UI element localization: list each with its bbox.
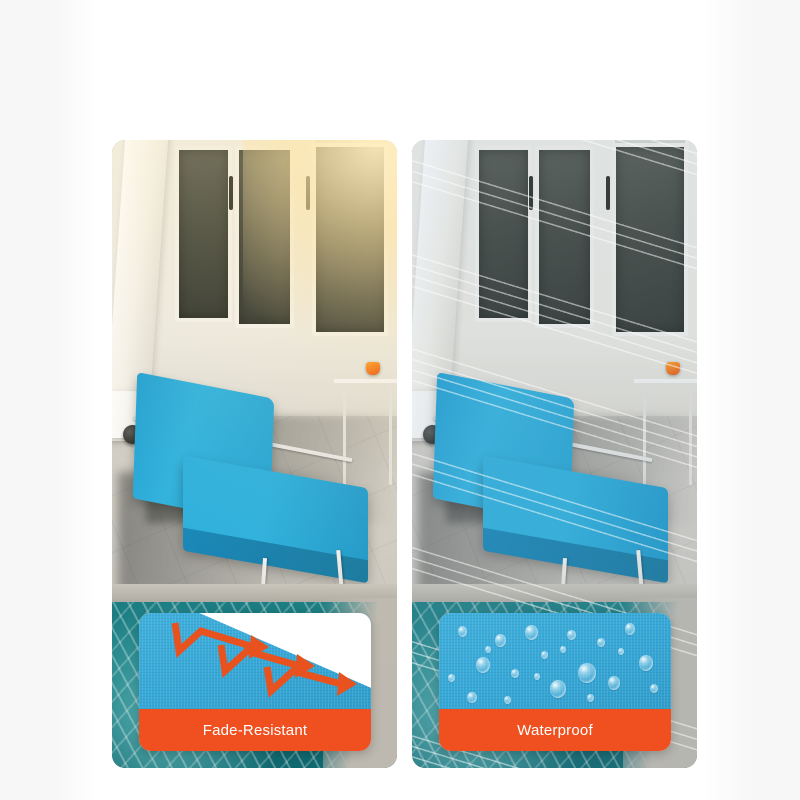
french-door-right <box>312 143 389 336</box>
panel-waterproof[interactable]: Waterproof <box>412 140 697 768</box>
orange-cup <box>666 362 680 375</box>
door-handle-middle <box>229 176 233 210</box>
french-door-left <box>475 146 532 323</box>
french-door-right <box>612 143 689 336</box>
feature-card-waterproof[interactable]: Waterproof <box>439 613 671 751</box>
panel-fade-resistant[interactable]: Fade-Resistant <box>112 140 397 768</box>
door-handle-right <box>306 176 310 210</box>
feature-card-fade-resistant[interactable]: Fade-Resistant <box>139 613 371 751</box>
page-subheadline: Premium Polyester Fabric <box>0 101 800 121</box>
feature-label-fade-resistant: Fade-Resistant <box>139 709 371 751</box>
door-handle-right <box>606 176 610 210</box>
orange-cup <box>366 362 380 375</box>
uv-deflection-arrows-icon <box>139 613 371 709</box>
water-droplets-icon <box>439 613 671 709</box>
fade-resistant-art <box>139 613 371 709</box>
product-feature-graphic: Built for Long-Term Outdoor Use Premium … <box>0 0 800 800</box>
door-handle-middle <box>529 176 533 210</box>
feature-label-waterproof: Waterproof <box>439 709 671 751</box>
french-door-middle <box>535 146 595 328</box>
french-door-middle <box>235 146 295 328</box>
french-door-left <box>175 146 232 323</box>
waterproof-art <box>439 613 671 709</box>
page-headline: Built for Long-Term Outdoor Use <box>12 46 788 86</box>
